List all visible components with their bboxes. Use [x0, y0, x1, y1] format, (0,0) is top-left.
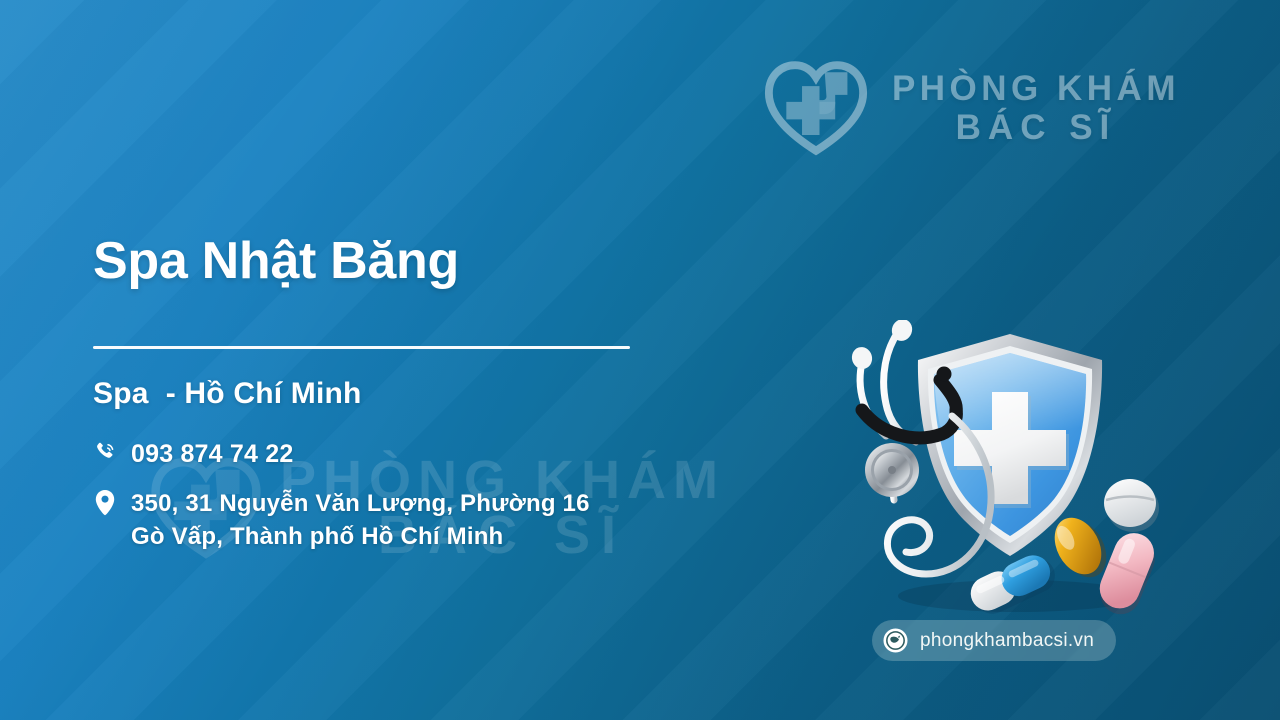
- address-text: 350, 31 Nguyễn Văn Lượng, Phường 16Gò Vấ…: [131, 487, 590, 553]
- address-line-2: Gò Vấp, Thành phố Hồ Chí Minh: [131, 523, 503, 550]
- phone-row[interactable]: 093 874 74 22: [93, 437, 793, 472]
- website-url: phongkhambacsi.vn: [920, 630, 1094, 652]
- brand-logo: PHÒNG KHÁM BÁC SĨ: [760, 60, 1180, 156]
- address-row[interactable]: 350, 31 Nguyễn Văn Lượng, Phường 16Gò Vấ…: [93, 487, 793, 553]
- brand-line-2: BÁC SĨ: [892, 108, 1180, 147]
- map-pin-icon: [93, 487, 117, 516]
- category-location-subtitle: Spa - Hồ Chí Minh: [93, 377, 793, 411]
- page-title: Spa Nhật Băng: [93, 232, 793, 292]
- white-round-tablet: [1104, 479, 1159, 532]
- clinic-info-block: Spa Nhật Băng Spa - Hồ Chí Minh 093 874 …: [93, 232, 793, 554]
- globe-icon: [883, 628, 908, 653]
- heart-cross-logo-icon: [760, 60, 872, 156]
- stethoscope-chestpiece: [865, 443, 919, 497]
- title-divider: [93, 346, 630, 349]
- phone-icon: [93, 437, 117, 462]
- website-badge[interactable]: phongkhambacsi.vn: [872, 620, 1116, 661]
- brand-line-1: PHÒNG KHÁM: [892, 69, 1180, 108]
- contact-list: 093 874 74 22 350, 31 Nguyễn Văn Lượng, …: [93, 437, 793, 554]
- phone-number: 093 874 74 22: [131, 437, 293, 472]
- address-line-1: 350, 31 Nguyễn Văn Lượng, Phường 16: [131, 490, 590, 517]
- stethoscope-eartip-left: [849, 344, 875, 371]
- brand-wordmark: PHÒNG KHÁM BÁC SĨ: [892, 69, 1180, 147]
- business-card-banner: PHÒNG KHÁM BÁC SĨ PHÒNG KHÁM BÁC SĨ Spa …: [0, 0, 1280, 720]
- medical-shield-stethoscope-pills-illustration: [840, 320, 1180, 620]
